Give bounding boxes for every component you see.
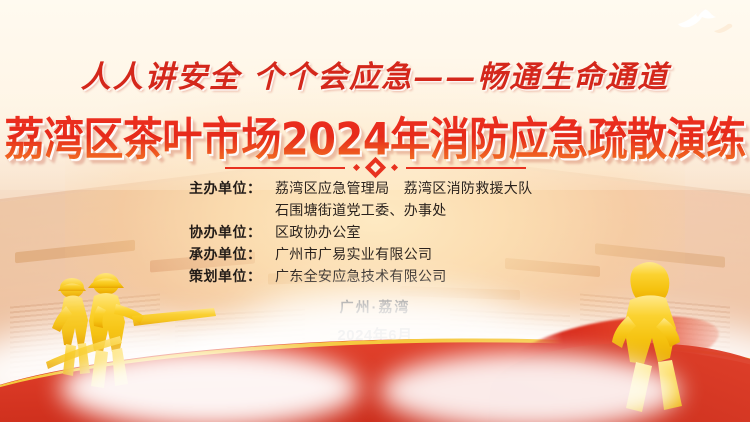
divider-line-right [406,167,526,169]
organizer-label: 协办单位： [189,222,275,242]
organizer-label: 主办单位： [189,178,275,198]
decorative-divider [0,160,750,175]
organizer-list: 主办单位： 荔湾区应急管理局 荔湾区消防救援大队 主办单位： 石围塘街道党工委、… [0,178,750,286]
divider-diamond-inner [370,163,380,173]
divider-dot [390,164,397,171]
organizer-value: 广东全安应急技术有限公司 [275,266,447,286]
organizer-row: 主办单位： 荔湾区应急管理局 荔湾区消防救援大队 [189,178,561,198]
organizer-value: 广州市广易实业有限公司 [275,244,432,264]
organizer-value: 石围塘街道党工委、办事处 [275,200,447,220]
organizer-row: 协办单位： 区政协办公室 [189,222,561,242]
location-text: 广州·荔湾 [0,297,750,317]
divider-line-left [225,167,345,169]
poster-canvas: 人人讲安全 个个会应急——畅通生命通道 荔湾区茶叶市场2024年消防应急疏散演练… [0,0,750,422]
script-headline: 人人讲安全 个个会应急——畅通生命通道 [0,52,750,96]
organizer-label: 策划单位： [189,266,275,286]
organizer-label: 承办单位： [189,244,275,264]
divider-diamond-icon [364,157,385,178]
organizer-row: 主办单位： 石围塘街道党工委、办事处 [189,200,561,220]
divider-dot [352,164,359,171]
organizer-value: 区政协办公室 [275,222,361,242]
organizer-row: 策划单位： 广东全安应急技术有限公司 [189,266,561,286]
organizer-value: 荔湾区应急管理局 荔湾区消防救援大队 [275,178,532,198]
organizer-row: 承办单位： 广州市广易实业有限公司 [189,244,561,264]
